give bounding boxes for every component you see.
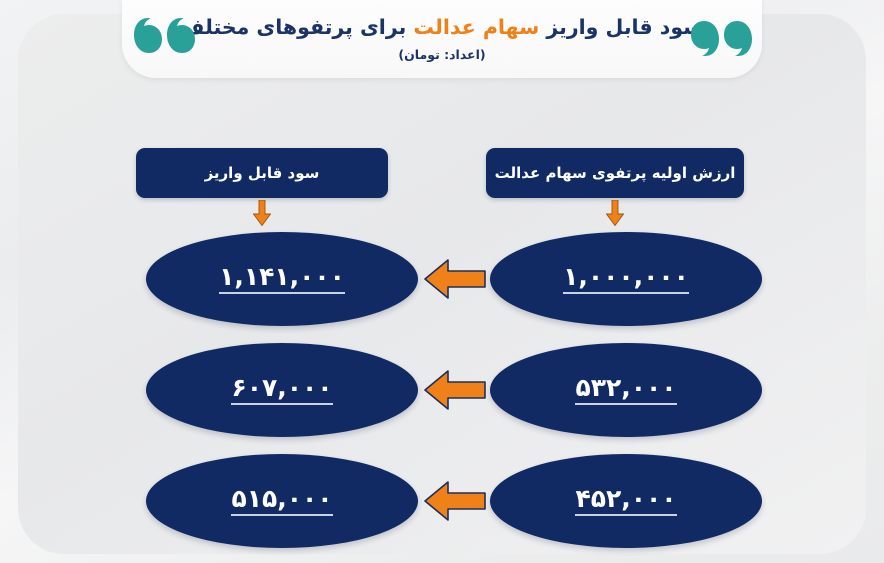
page-title: سود قابل واریز سهام عدالت برای پرتفوهای … [181, 16, 704, 40]
arrow-left-icon [424, 369, 486, 411]
initial-value-value: ۱,۰۰۰,۰۰۰ [563, 264, 689, 293]
infographic-root: سود قابل واریز سهام عدالت برای پرتفوهای … [0, 0, 884, 563]
arrow-down-icon [606, 200, 624, 226]
arrow-left-icon [424, 258, 486, 300]
payable-profit-value: ۶۰۷,۰۰۰ [231, 375, 332, 404]
value-ellipse-payable-profit: ۱,۱۴۱,۰۰۰ [146, 232, 418, 326]
value-ellipse-payable-profit: ۵۱۵,۰۰۰ [146, 454, 418, 548]
value-ellipse-initial-value: ۵۳۲,۰۰۰ [490, 343, 762, 437]
value-ellipse-initial-value: ۱,۰۰۰,۰۰۰ [490, 232, 762, 326]
title-text-part2: برای پرتفوهای مختلف [181, 15, 414, 39]
value-ellipse-payable-profit: ۶۰۷,۰۰۰ [146, 343, 418, 437]
column-header-initial-value: ارزش اولیه پرتفوی سهام عدالت [486, 148, 744, 198]
initial-value-value: ۵۳۲,۰۰۰ [575, 375, 676, 404]
payable-profit-value: ۵۱۵,۰۰۰ [231, 486, 332, 515]
payable-profit-value: ۱,۱۴۱,۰۰۰ [219, 264, 345, 293]
title-text-part1: سود قابل واریز [539, 15, 703, 39]
initial-value-value: ۴۵۲,۰۰۰ [575, 486, 676, 515]
column-header-right-label: ارزش اولیه پرتفوی سهام عدالت [495, 164, 736, 182]
column-header-payable-profit: سود قابل واریز [136, 148, 388, 198]
column-header-left-label: سود قابل واریز [205, 164, 320, 182]
page-subtitle: (اعداد: تومان) [398, 47, 485, 62]
value-ellipse-initial-value: ۴۵۲,۰۰۰ [490, 454, 762, 548]
title-banner: سود قابل واریز سهام عدالت برای پرتفوهای … [122, 0, 762, 78]
title-text-accent: سهام عدالت [413, 15, 539, 39]
arrow-left-icon [424, 480, 486, 522]
arrow-down-icon [253, 200, 271, 226]
